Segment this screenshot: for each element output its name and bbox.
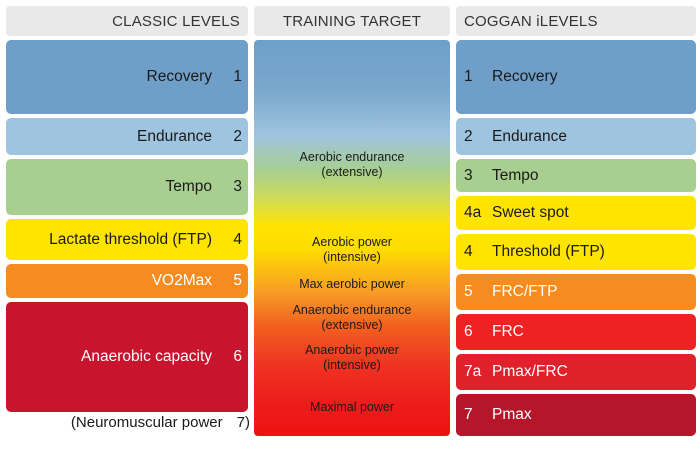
training-target-subtitle: (intensive) (254, 250, 450, 265)
classic-level-label: Tempo (165, 178, 212, 196)
coggan-ilevel-label: Pmax/FRC (492, 363, 568, 381)
coggan-ilevel-block[interactable]: 2Endurance (456, 118, 696, 155)
coggan-ilevel-number: 4 (464, 243, 488, 261)
header-training-target: TRAINING TARGET (254, 6, 450, 36)
coggan-ilevel-label: Threshold (FTP) (492, 243, 605, 261)
classic-level-block[interactable]: Anaerobic capacity6 (6, 302, 248, 412)
training-target-subtitle: (extensive) (254, 165, 450, 180)
coggan-ilevel-number: 5 (464, 283, 488, 301)
training-target-label: Anaerobic endurance(extensive) (254, 303, 450, 333)
coggan-ilevels-column: 1Recovery2Endurance3Tempo4aSweet spot4Th… (456, 40, 696, 436)
classic-level-number: 2 (226, 128, 242, 146)
training-target-title: Aerobic endurance (254, 150, 450, 165)
coggan-ilevel-block[interactable]: 1Recovery (456, 40, 696, 114)
header-classic-levels: CLASSIC LEVELS (6, 6, 248, 36)
training-target-label: Aerobic endurance(extensive) (254, 150, 450, 180)
coggan-ilevel-number: 1 (464, 68, 488, 86)
classic-level-block[interactable]: Recovery1 (6, 40, 248, 114)
header-coggan-ilevels: COGGAN iLEVELS (456, 6, 696, 36)
column-headers: CLASSIC LEVELS TRAINING TARGET COGGAN iL… (0, 6, 700, 36)
coggan-ilevel-block[interactable]: 3Tempo (456, 159, 696, 192)
coggan-ilevel-label: Endurance (492, 128, 567, 146)
coggan-ilevel-label: FRC/FTP (492, 283, 557, 301)
coggan-ilevel-number: 7 (464, 406, 488, 424)
classic-levels-column: Recovery1Endurance2Tempo3Lactate thresho… (6, 40, 248, 412)
coggan-ilevel-block[interactable]: 5FRC/FTP (456, 274, 696, 310)
training-target-title: Anaerobic power (254, 343, 450, 358)
classic-level-block[interactable]: Endurance2 (6, 118, 248, 155)
coggan-ilevel-label: Tempo (492, 167, 539, 185)
training-target-subtitle: (intensive) (254, 358, 450, 373)
coggan-ilevel-block[interactable]: 4Threshold (FTP) (456, 234, 696, 270)
coggan-ilevel-number: 6 (464, 323, 488, 341)
coggan-ilevel-label: Sweet spot (492, 204, 569, 222)
footnote-number: 7) (237, 414, 250, 431)
classic-level-block[interactable]: Lactate threshold (FTP)4 (6, 219, 248, 260)
classic-level-label: Recovery (147, 68, 212, 86)
training-target-subtitle: (extensive) (254, 318, 450, 333)
training-zones-chart: CLASSIC LEVELS TRAINING TARGET COGGAN iL… (0, 0, 700, 449)
classic-level-label: Anaerobic capacity (81, 348, 212, 366)
classic-level-number: 3 (226, 178, 242, 196)
classic-level-number: 4 (226, 231, 242, 249)
classic-level-block[interactable]: VO2Max5 (6, 264, 248, 298)
coggan-ilevel-block[interactable]: 6FRC (456, 314, 696, 350)
training-target-title: Aerobic power (254, 235, 450, 250)
coggan-ilevel-number: 2 (464, 128, 488, 146)
classic-level-number: 6 (226, 348, 242, 366)
training-target-label: Maximal power (254, 400, 450, 415)
training-target-label: Anaerobic power(intensive) (254, 343, 450, 373)
coggan-ilevel-label: Pmax (492, 406, 532, 424)
neuromuscular-power-footnote: (Neuromuscular power 7) (6, 414, 256, 431)
training-target-label: Max aerobic power (254, 277, 450, 292)
training-target-column: Aerobic endurance(extensive)Aerobic powe… (254, 40, 450, 436)
training-target-title: Anaerobic endurance (254, 303, 450, 318)
coggan-ilevel-block[interactable]: 7aPmax/FRC (456, 354, 696, 390)
coggan-ilevel-number: 3 (464, 167, 488, 185)
coggan-ilevel-number: 7a (464, 363, 488, 381)
classic-level-number: 1 (226, 68, 242, 86)
coggan-ilevel-label: Recovery (492, 68, 557, 86)
coggan-ilevel-block[interactable]: 7Pmax (456, 394, 696, 436)
coggan-ilevel-number: 4a (464, 204, 488, 222)
classic-level-label: VO2Max (152, 272, 212, 290)
classic-level-label: Lactate threshold (FTP) (49, 231, 212, 249)
classic-level-block[interactable]: Tempo3 (6, 159, 248, 215)
training-target-title: Maximal power (254, 400, 450, 415)
coggan-ilevel-block[interactable]: 4aSweet spot (456, 196, 696, 230)
training-target-label: Aerobic power(intensive) (254, 235, 450, 265)
classic-level-label: Endurance (137, 128, 212, 146)
footnote-label: (Neuromuscular power (71, 414, 223, 431)
classic-level-number: 5 (226, 272, 242, 290)
coggan-ilevel-label: FRC (492, 323, 524, 341)
training-target-title: Max aerobic power (254, 277, 450, 292)
